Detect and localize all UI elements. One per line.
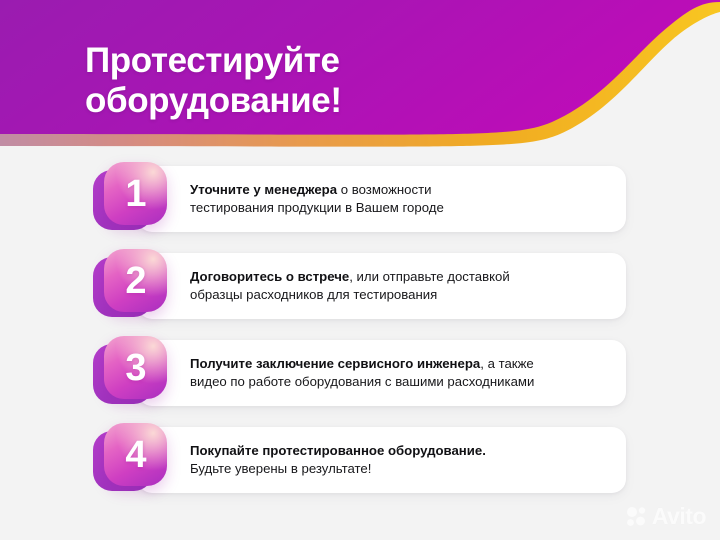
avito-wordmark: Avito: [652, 505, 706, 528]
page-title: Протестируйте оборудование!: [85, 41, 555, 120]
step-number-badge: 2: [93, 249, 167, 323]
step-bold-text: Уточните у менеджера: [190, 182, 337, 197]
step-bold-text: Договоритесь о встрече: [190, 269, 349, 284]
step-bold-text: Покупайте протестированное оборудование.: [190, 443, 486, 458]
step-text: Договоритесь о встрече, или отправьте до…: [190, 253, 612, 319]
step-number: 2: [104, 249, 167, 312]
step-regular-text: , а также: [480, 356, 533, 371]
step-number: 1: [104, 162, 167, 225]
step-number-badge: 1: [93, 162, 167, 236]
step-line-2: Будьте уверены в результате!: [190, 460, 612, 478]
step-line-1: Покупайте протестированное оборудование.: [190, 442, 612, 460]
steps-list: Уточните у менеджера о возможности тести…: [0, 152, 720, 540]
step-card: Договоритесь о встрече, или отправьте до…: [138, 253, 626, 319]
step-card: Покупайте протестированное оборудование.…: [138, 427, 626, 493]
step-text: Уточните у менеджера о возможности тести…: [190, 166, 612, 232]
step-line-1: Договоритесь о встрече, или отправьте до…: [190, 268, 612, 286]
step-number: 3: [104, 336, 167, 399]
step-line-2: видео по работе оборудования с вашими ра…: [190, 373, 612, 391]
step-text: Покупайте протестированное оборудование.…: [190, 427, 612, 493]
step-line-1: Получите заключение сервисного инженера,…: [190, 355, 612, 373]
step-line-2: тестирования продукции в Вашем городе: [190, 199, 612, 217]
step-line-2: образцы расходников для тестирования: [190, 286, 612, 304]
avito-logo-dots-icon: [626, 506, 648, 528]
step-number-badge: 3: [93, 336, 167, 410]
list-item: Уточните у менеджера о возможности тести…: [93, 162, 626, 236]
list-item: Покупайте протестированное оборудование.…: [93, 423, 626, 497]
step-card: Получите заключение сервисного инженера,…: [138, 340, 626, 406]
step-regular-text: о возможности: [337, 182, 431, 197]
step-text: Получите заключение сервисного инженера,…: [190, 340, 612, 406]
step-bold-text: Получите заключение сервисного инженера: [190, 356, 480, 371]
header-banner: Протестируйте оборудование!: [0, 0, 720, 152]
list-item: Договоритесь о встрече, или отправьте до…: [93, 249, 626, 323]
list-item: Получите заключение сервисного инженера,…: [93, 336, 626, 410]
step-number-badge: 4: [93, 423, 167, 497]
step-line-1: Уточните у менеджера о возможности: [190, 181, 612, 199]
step-number: 4: [104, 423, 167, 486]
avito-watermark: Avito: [626, 505, 706, 528]
step-regular-text: , или отправьте доставкой: [349, 269, 510, 284]
poster-canvas: Протестируйте оборудование! Уточните у м…: [0, 0, 720, 540]
step-card: Уточните у менеджера о возможности тести…: [138, 166, 626, 232]
